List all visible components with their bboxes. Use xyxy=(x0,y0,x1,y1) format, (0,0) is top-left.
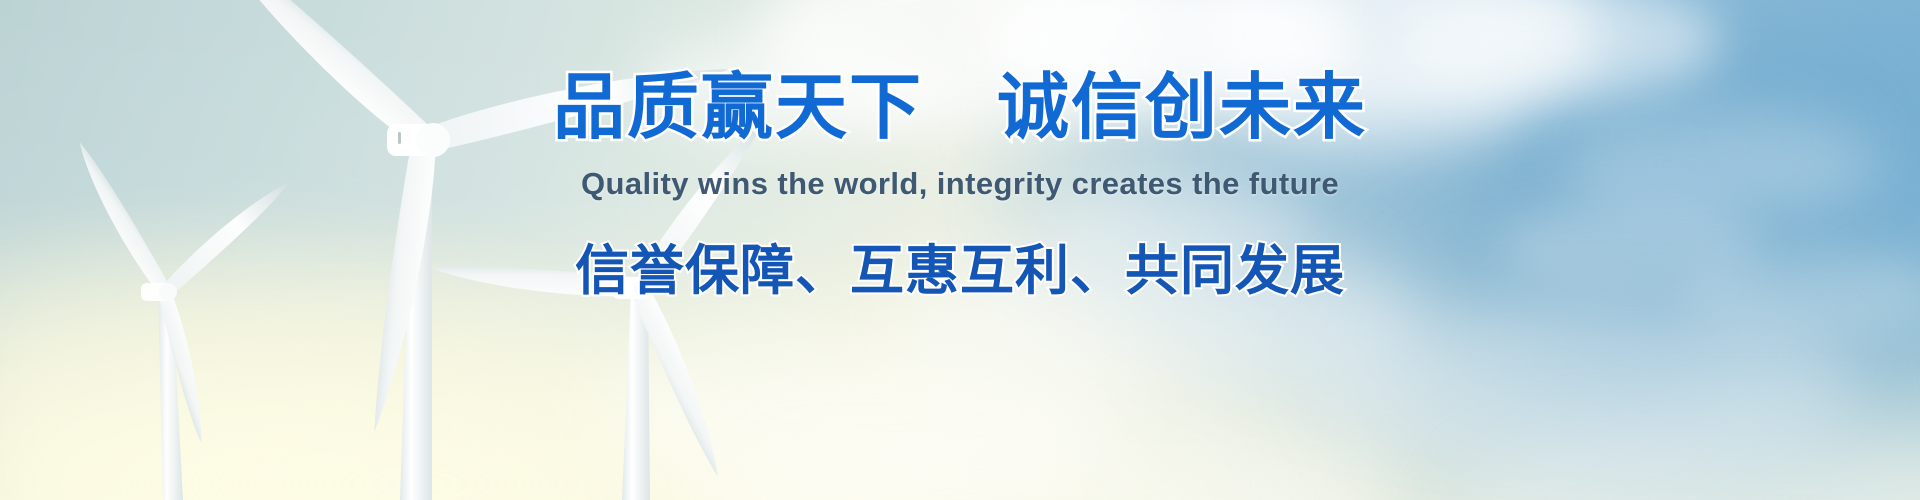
promotional-banner: 品质赢天下 诚信创未来 Quality wins the world, inte… xyxy=(0,0,1920,500)
banner-tagline: 信誉保障、互惠互利、共同发展 xyxy=(0,238,1920,304)
banner-subline-english: Quality wins the world, integrity create… xyxy=(0,166,1920,202)
banner-text-block: 品质赢天下 诚信创未来 Quality wins the world, inte… xyxy=(0,0,1920,500)
banner-headline: 品质赢天下 诚信创未来 xyxy=(0,66,1920,150)
